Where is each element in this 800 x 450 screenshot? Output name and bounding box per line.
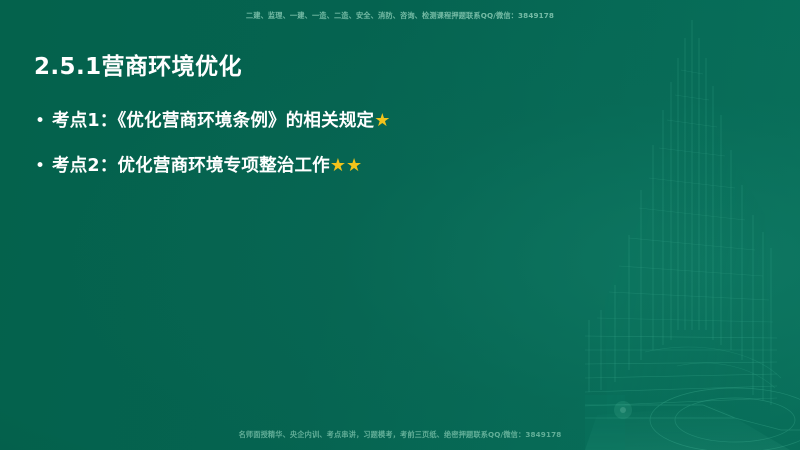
bottom-banner-text: 名师面授精华、央企内训、考点串讲，习题模考，考前三页纸、绝密押题联系QQ/微信：… bbox=[0, 430, 800, 440]
star-rating: ★ bbox=[374, 110, 390, 131]
slide-canvas: 二建、监理、一建、一造、二造、安全、消防、咨询、检测课程押题联系QQ/微信：38… bbox=[0, 0, 800, 450]
list-item-label: 考点1：《优化营商环境条例》的相关规定★ bbox=[52, 108, 390, 134]
list-item-text: 考点2：优化营商环境专项整治工作 bbox=[52, 156, 330, 176]
list-item: • 考点1：《优化营商环境条例》的相关规定★ bbox=[32, 108, 592, 134]
bullet-dot-icon: • bbox=[32, 108, 52, 134]
list-item-label: 考点2：优化营商环境专项整治工作★★ bbox=[52, 153, 362, 179]
page-title: 2.5.1营商环境优化 bbox=[34, 47, 242, 81]
list-item-text: 考点1：《优化营商环境条例》的相关规定 bbox=[52, 111, 374, 131]
list-item: • 考点2：优化营商环境专项整治工作★★ bbox=[32, 153, 592, 179]
bullet-list: • 考点1：《优化营商环境条例》的相关规定★ • 考点2：优化营商环境专项整治工… bbox=[32, 108, 592, 198]
bullet-dot-icon: • bbox=[32, 153, 52, 179]
star-rating: ★★ bbox=[330, 155, 362, 176]
top-banner-text: 二建、监理、一建、一造、二造、安全、消防、咨询、检测课程押题联系QQ/微信：38… bbox=[0, 11, 800, 21]
